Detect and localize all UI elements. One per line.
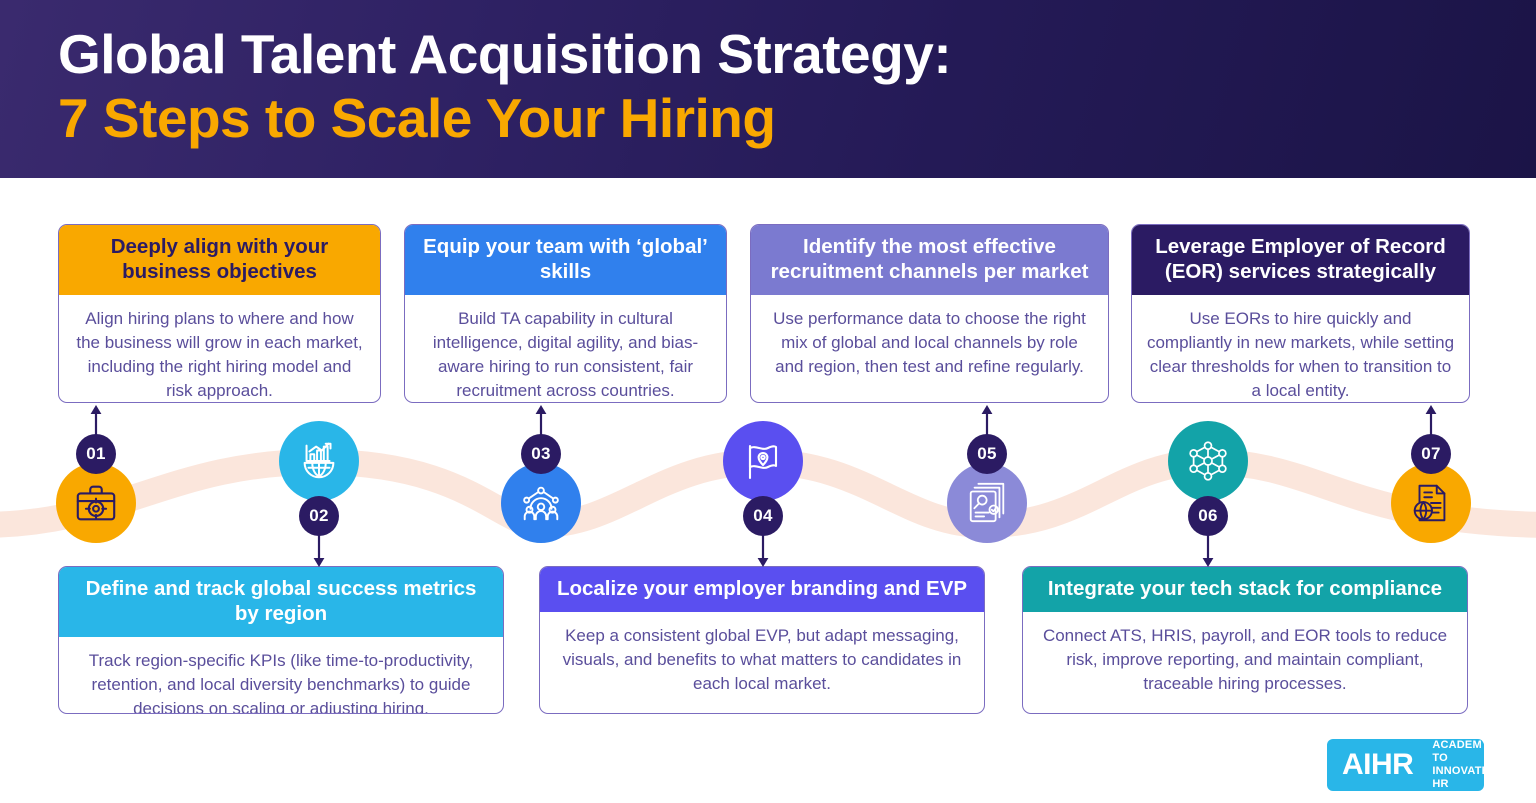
step-card-7-body: Use EORs to hire quickly and compliantly… [1132,295,1469,403]
step-card-4-body: Keep a consistent global EVP, but adapt … [540,612,984,710]
briefcase-target-icon [73,480,119,526]
step-card-1[interactable]: Deeply align with your business objectiv… [58,224,381,403]
step-card-2[interactable]: Define and track global success metrics … [58,566,504,714]
step-icon-circle-3[interactable] [501,463,581,543]
logo-tagline-line-1: ACADEMY TO [1432,739,1489,765]
step-icon-circle-6[interactable] [1168,421,1248,501]
step-badge-6: 06 [1188,496,1228,536]
step-card-6-body: Connect ATS, HRIS, payroll, and EOR tool… [1023,612,1467,710]
step-card-1-body: Align hiring plans to where and how the … [59,295,380,403]
step-card-2-title: Define and track global success metrics … [59,567,503,637]
step-badge-5-label: 05 [977,444,997,464]
step-card-5-title: Identify the most effective recruitment … [751,225,1108,295]
step-badge-3: 03 [521,434,561,474]
title-line-1: Global Talent Acquisition Strategy: [58,22,951,86]
step-card-4[interactable]: Localize your employer branding and EVP … [539,566,985,714]
step-card-3[interactable]: Equip your team with ‘global’ skills Bui… [404,224,727,403]
flag-location-pin-icon [739,437,787,485]
step-badge-1: 01 [76,434,116,474]
infographic-canvas: Global Talent Acquisition Strategy: 7 St… [0,0,1536,803]
step-card-3-body: Build TA capability in cultural intellig… [405,295,726,403]
step-badge-1-label: 01 [86,444,106,464]
arrow-down-6 [1200,532,1216,568]
step-icon-circle-5[interactable] [947,463,1027,543]
step-badge-3-label: 03 [531,444,551,464]
step-badge-2-label: 02 [309,506,329,526]
logo-tagline-line-2: INNOVATE HR [1432,765,1489,791]
step-card-6[interactable]: Integrate your tech stack for compliance… [1022,566,1468,714]
step-card-5[interactable]: Identify the most effective recruitment … [750,224,1109,403]
global-document-icon [1408,480,1454,526]
step-card-1-title: Deeply align with your business objectiv… [59,225,380,295]
aihr-logo[interactable]: AIHR ACADEMY TO INNOVATE HR [1327,739,1484,791]
step-card-5-body: Use performance data to choose the right… [751,295,1108,393]
step-card-4-title: Localize your employer branding and EVP [540,567,984,612]
title-line-2: 7 Steps to Scale Your Hiring [58,86,951,150]
step-icon-circle-7[interactable] [1391,463,1471,543]
logo-brand-text: AIHR [1342,748,1413,782]
page-title: Global Talent Acquisition Strategy: 7 St… [58,22,951,150]
step-card-7[interactable]: Leverage Employer of Record (EOR) servic… [1131,224,1470,403]
header-banner: Global Talent Acquisition Strategy: 7 St… [0,0,1536,178]
candidate-search-document-icon [964,480,1010,526]
arrow-down-4 [755,532,771,568]
step-badge-2: 02 [299,496,339,536]
step-badge-7-label: 07 [1421,444,1441,464]
step-badge-4: 04 [743,496,783,536]
step-card-6-title: Integrate your tech stack for compliance [1023,567,1467,612]
step-card-2-body: Track region-specific KPIs (like time-to… [59,637,503,714]
step-card-3-title: Equip your team with ‘global’ skills [405,225,726,295]
globe-bar-chart-icon [296,438,342,484]
step-badge-5: 05 [967,434,1007,474]
step-badge-7: 07 [1411,434,1451,474]
step-icon-circle-4[interactable] [723,421,803,501]
step-icon-circle-1[interactable] [56,463,136,543]
step-badge-6-label: 06 [1198,506,1218,526]
molecule-network-icon [1185,438,1231,484]
logo-tagline: ACADEMY TO INNOVATE HR [1432,739,1489,791]
arrow-down-2 [311,532,327,568]
step-badge-4-label: 04 [753,506,773,526]
step-card-7-title: Leverage Employer of Record (EOR) servic… [1132,225,1469,295]
team-network-icon [518,480,564,526]
step-icon-circle-2[interactable] [279,421,359,501]
